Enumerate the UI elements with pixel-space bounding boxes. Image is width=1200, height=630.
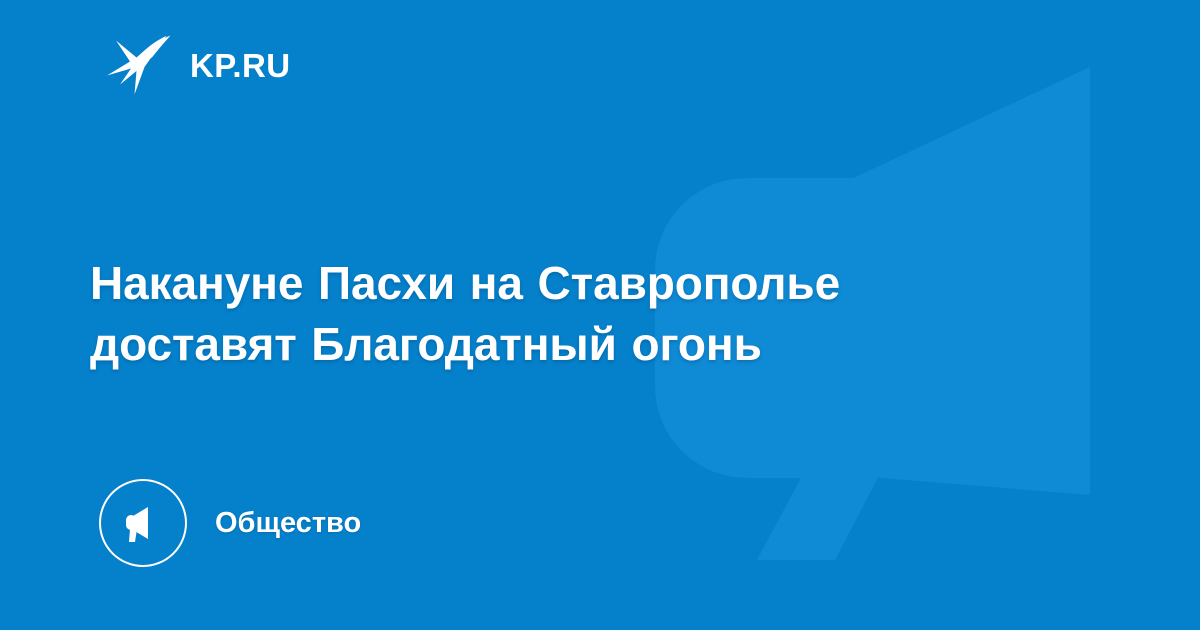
brand-logo[interactable]: KP.RU	[106, 34, 290, 96]
swallow-bird-icon	[106, 34, 174, 96]
category-icon-circle	[99, 479, 187, 567]
category-badge[interactable]: Общество	[99, 478, 361, 568]
social-share-card: KP.RU Накануне Пасхи на Ставрополье дост…	[0, 0, 1200, 630]
category-label: Общество	[215, 509, 361, 538]
megaphone-icon	[118, 498, 168, 548]
brand-name: KP.RU	[190, 49, 290, 82]
page-title: Накануне Пасхи на Ставрополье доставят Б…	[90, 253, 1050, 374]
